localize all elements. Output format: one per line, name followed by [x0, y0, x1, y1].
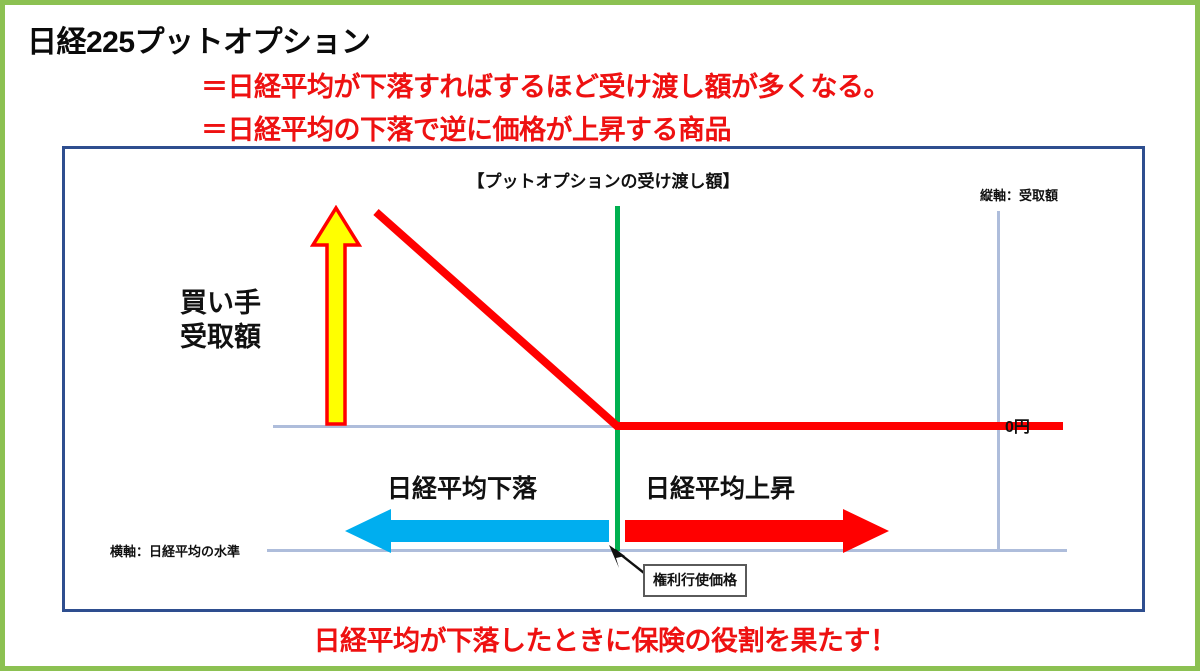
subtitle-line-2: ＝日経平均の下落で逆に価格が上昇する商品 — [201, 108, 731, 147]
nikkei-up-label: 日経平均上昇 — [645, 469, 795, 505]
buyer-payoff-label: 買い手 受取額 — [180, 287, 261, 355]
page-title: 日経225プットオプション — [27, 17, 371, 61]
zero-value-label: 0円 — [1005, 413, 1030, 437]
buyer-payoff-label-line2: 受取額 — [180, 321, 261, 355]
subtitle-line-1: ＝日経平均が下落すればするほど受け渡し額が多くなる。 — [201, 65, 890, 104]
buyer-payoff-arrow — [310, 205, 362, 427]
nikkei-down-label: 日経平均下落 — [387, 469, 537, 505]
strike-price-line — [615, 206, 620, 551]
footer-note: 日経平均が下落したときに保険の役割を果たす！ — [5, 619, 1200, 658]
buyer-payoff-label-line1: 買い手 — [180, 287, 261, 321]
payoff-chart: 【プットオプションの受け渡し額】 縦軸：受取額 横軸：日経平均の水準 買い手 受… — [62, 146, 1145, 612]
x-axis-label: 横軸：日経平均の水準 — [110, 541, 240, 560]
nikkei-down-arrow — [343, 508, 611, 554]
slide-canvas: 日経225プットオプション ＝日経平均が下落すればするほど受け渡し額が多くなる。… — [0, 0, 1200, 671]
strike-price-callout: 権利行使価格 — [643, 564, 747, 597]
y-axis-label: 縦軸：受取額 — [980, 185, 1058, 204]
right-axis-line — [997, 211, 1000, 552]
zero-axis-line — [273, 425, 1063, 428]
